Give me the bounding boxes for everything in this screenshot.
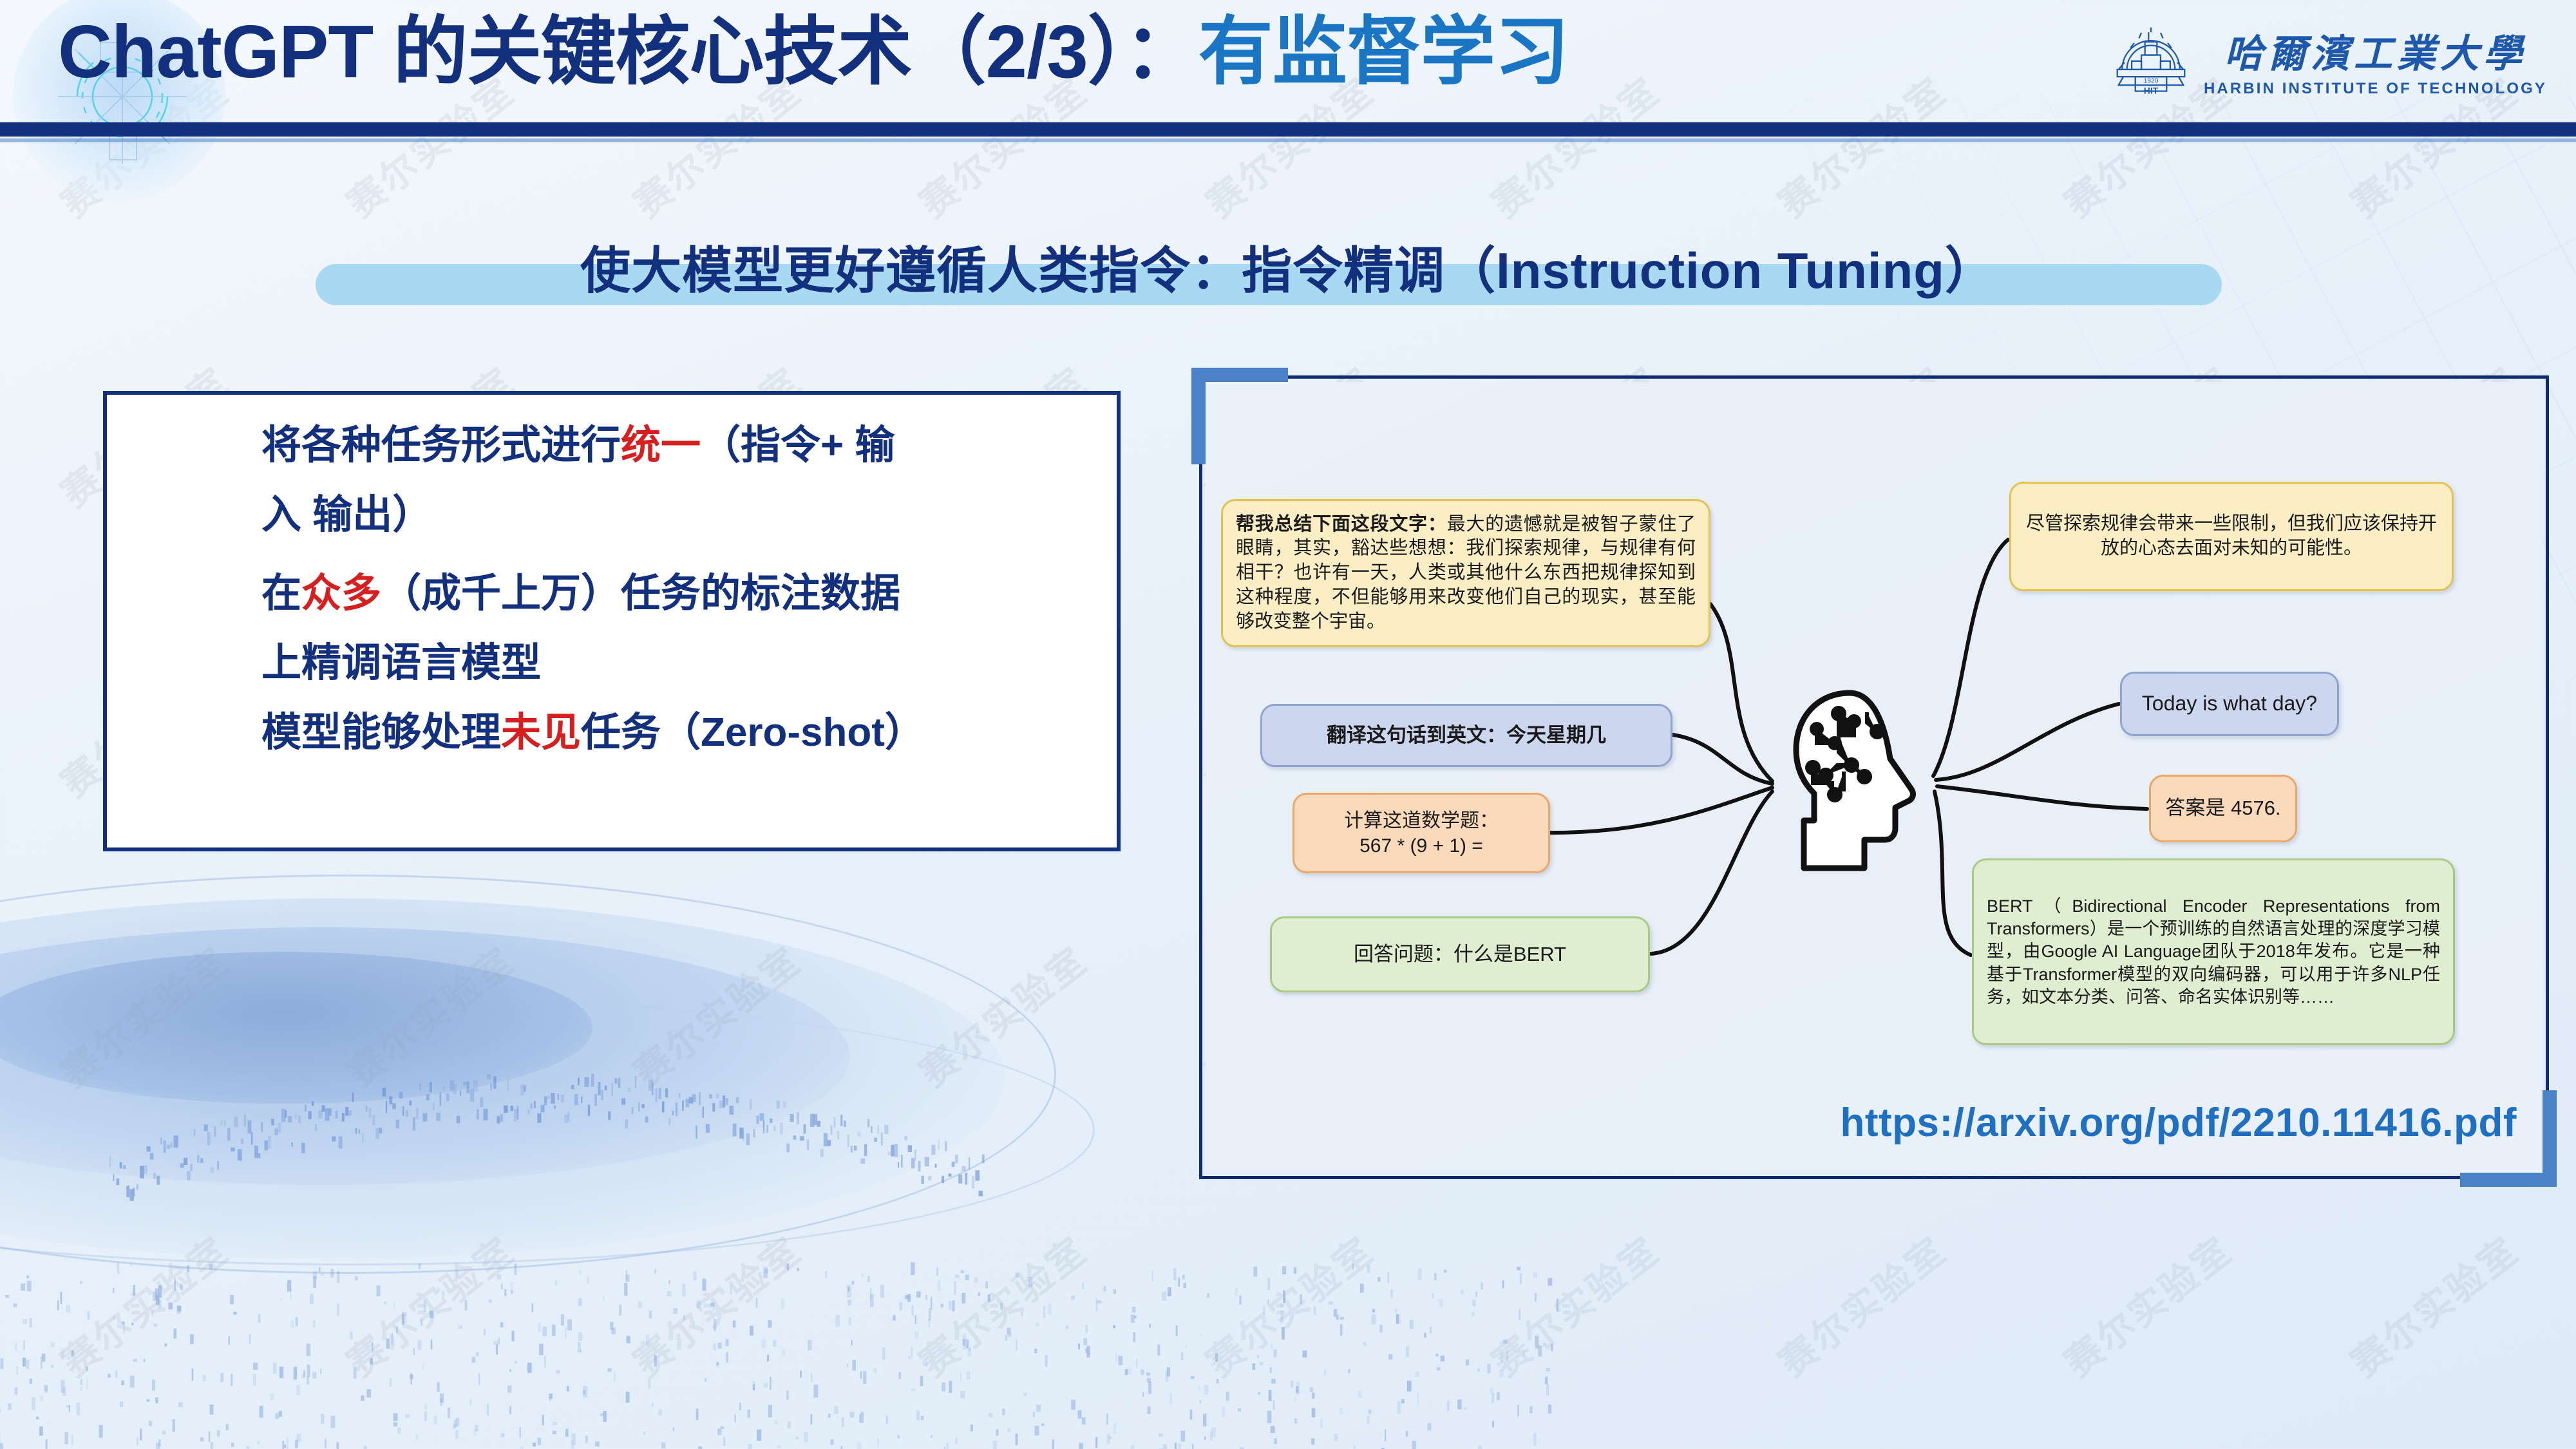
watermark-text: 赛尔实验室 — [513, 812, 917, 1217]
key-point-line: 入 输出） — [261, 495, 1124, 535]
key-point-text: 在 — [261, 571, 301, 616]
watermark-text: 赛尔实验室 — [513, 1102, 917, 1449]
watermark-text: 赛尔实验室 — [800, 1102, 1204, 1449]
hit-university-logo: 1920 HIT 哈爾濱工業大學 HARBIN INSTITUTE OF TEC… — [2115, 18, 2547, 102]
key-points-list: 将各种任务形式进行统一（指令+ 输入 输出）在众多（成千上万）任务的标注数据上精… — [261, 426, 1124, 782]
background-platform-outer — [0, 898, 1005, 1259]
key-point-line: 在众多（成千上万）任务的标注数据 — [261, 574, 1124, 614]
key-point-text: （指令+ 输 — [701, 423, 895, 468]
diagram-panel-border — [1199, 375, 2549, 1179]
key-point-line: 模型能够处理未见任务（Zero-shot） — [261, 713, 1124, 753]
key-point-text: 将各种任务形式进行 — [261, 423, 621, 468]
watermark-text: 赛尔实验室 — [0, 1102, 345, 1449]
crest-year-text: 1920 — [2144, 77, 2159, 84]
key-point-text: 模型能够处理 — [261, 710, 501, 755]
subtitle-text: 使大模型更好遵循人类指令：指令精调（Instruction Tuning） — [0, 231, 2576, 303]
slide-header: ChatGPT 的关键核心技术（2/3）：有监督学习 1920 HIT 哈爾 — [0, 0, 2576, 161]
watermark-text: 赛尔实验室 — [227, 1102, 631, 1449]
header-divider-thin — [0, 138, 2576, 142]
key-point-text: 任务（Zero-shot） — [581, 710, 925, 755]
crest-abbr-text: HIT — [2144, 85, 2159, 95]
page-title-main: ChatGPT 的关键核心技术（2/3）： — [58, 10, 1198, 93]
background-ring-inner — [0, 995, 1095, 1265]
header-divider-thick — [0, 122, 2576, 137]
background-dot-arc — [84, 1063, 1011, 1269]
background-dot-field — [0, 1262, 1558, 1449]
key-point-highlight: 众多 — [301, 571, 381, 616]
hit-name-chinese: 哈爾濱工業大學 — [2224, 23, 2526, 79]
hit-logo-names: 哈爾濱工業大學 HARBIN INSTITUTE OF TECHNOLOGY — [2204, 23, 2547, 98]
key-point-text: （成千上万）任务的标注数据 — [381, 571, 900, 616]
watermark-text: 赛尔实验室 — [227, 812, 631, 1217]
key-point-highlight: 统一 — [621, 423, 701, 468]
background-ring-outer — [0, 875, 1056, 1274]
watermark-text: 赛尔实验室 — [800, 812, 1204, 1217]
hit-crest-icon: 1920 HIT — [2115, 23, 2187, 97]
background-platform-inner — [0, 952, 592, 1104]
key-point-text: 上精调语言模型 — [261, 641, 541, 685]
key-point-text: 入 输出） — [261, 493, 432, 537]
key-point-highlight: 未见 — [501, 710, 581, 755]
watermark-text: 赛尔实验室 — [0, 812, 345, 1217]
instruction-tuning-diagram-panel: 帮我总结下面这段文字：最大的遗憾就是被智子蒙住了眼睛，其实，豁达些想想：我们探索… — [1199, 375, 2549, 1179]
subtitle-banner: 使大模型更好遵循人类指令：指令精调（Instruction Tuning） — [0, 225, 2576, 322]
page-title: ChatGPT 的关键核心技术（2/3）：有监督学习 — [58, 14, 1569, 89]
hit-name-english: HARBIN INSTITUTE OF TECHNOLOGY — [2204, 80, 2547, 98]
key-points-panel: 将各种任务形式进行统一（指令+ 输入 输出）在众多（成千上万）任务的标注数据上精… — [103, 391, 1121, 851]
key-point-line: 将各种任务形式进行统一（指令+ 输 — [261, 426, 1124, 466]
page-title-accent: 有监督学习 — [1198, 10, 1569, 93]
background-platform-mid — [0, 927, 850, 1185]
key-point-line: 上精调语言模型 — [261, 643, 1124, 683]
